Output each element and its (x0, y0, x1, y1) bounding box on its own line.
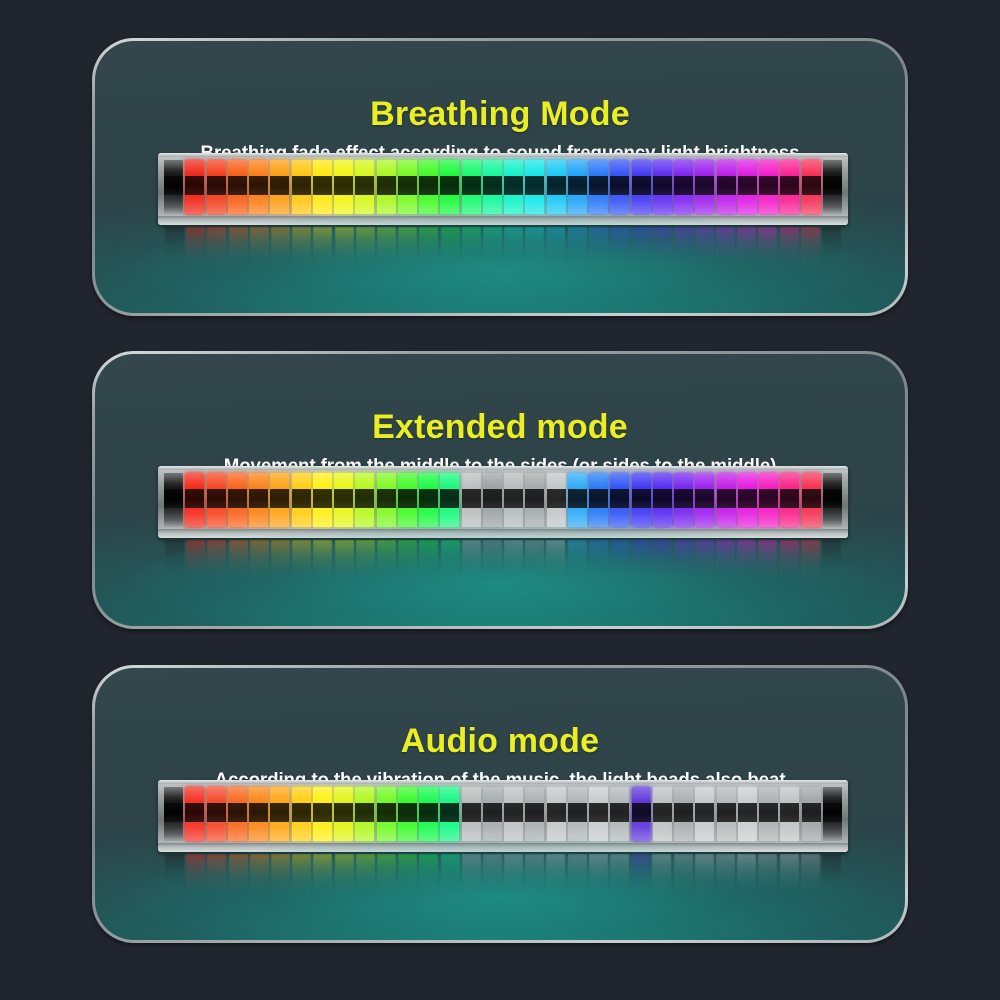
led-segment (249, 160, 268, 214)
led-reflection-segment (589, 540, 608, 602)
led-segment (632, 473, 651, 527)
led-segment (398, 473, 417, 527)
led-segment (653, 473, 672, 527)
led-segment (164, 160, 183, 214)
led-reflection-segment (292, 540, 311, 602)
led-reflection-segment (250, 540, 269, 602)
led-segment (292, 160, 311, 214)
led-segment (228, 787, 247, 841)
led-segment (462, 160, 481, 214)
led-reflection-segment (631, 540, 650, 602)
led-segment (164, 787, 183, 841)
led-segment (270, 160, 289, 214)
led-reflection-segment (441, 540, 460, 602)
led-reflection-segment (822, 540, 841, 602)
led-segment (164, 473, 183, 527)
led-segment (504, 787, 523, 841)
led-bar-reflection-breathing (164, 227, 842, 289)
led-reflection-segment (207, 540, 226, 602)
led-segment (398, 787, 417, 841)
led-reflection-segment (546, 854, 565, 916)
led-segment (228, 473, 247, 527)
led-reflection-segment (801, 540, 820, 602)
led-reflection-segment (398, 227, 417, 289)
led-reflection-segment (313, 227, 332, 289)
led-segment (270, 473, 289, 527)
led-segment (823, 473, 842, 527)
led-reflection-segment (652, 854, 671, 916)
led-reflection-segment (652, 227, 671, 289)
led-reflection-segment (186, 540, 205, 602)
led-reflection-segment (525, 227, 544, 289)
led-segment (504, 473, 523, 527)
led-reflection-segment (695, 854, 714, 916)
led-reflection-segment (758, 854, 777, 916)
led-segment (632, 787, 651, 841)
led-segment (483, 473, 502, 527)
led-reflection-segment (441, 227, 460, 289)
led-segment (738, 160, 757, 214)
led-segment (292, 787, 311, 841)
led-segment (589, 160, 608, 214)
led-segment (419, 787, 438, 841)
led-segment (334, 160, 353, 214)
led-reflection-segment (780, 227, 799, 289)
led-segment (717, 787, 736, 841)
mode-panel-breathing: Breathing Mode Breathing fade effect acc… (92, 38, 908, 316)
led-segment (674, 473, 693, 527)
led-segment (695, 160, 714, 214)
led-segment (653, 160, 672, 214)
led-reflection-segment (674, 540, 693, 602)
led-segment (249, 473, 268, 527)
led-segment (228, 160, 247, 214)
led-reflection-segment (504, 540, 523, 602)
led-segment (377, 473, 396, 527)
led-reflection-segment (568, 540, 587, 602)
led-segment (249, 787, 268, 841)
led-reflection-segment (758, 540, 777, 602)
led-segment (292, 473, 311, 527)
led-segment (207, 473, 226, 527)
led-segment (334, 787, 353, 841)
led-reflection-segment (737, 540, 756, 602)
led-reflection-segment (610, 854, 629, 916)
led-reflection-segment (758, 227, 777, 289)
led-reflection-segment (801, 854, 820, 916)
led-segment (695, 473, 714, 527)
led-reflection-segment (483, 854, 502, 916)
led-segment (589, 787, 608, 841)
led-segment (504, 160, 523, 214)
led-reflection-segment (419, 227, 438, 289)
led-reflection-segment (462, 227, 481, 289)
led-bar-reflection-audio (164, 854, 842, 916)
led-segment (674, 160, 693, 214)
led-reflection-segment (525, 540, 544, 602)
led-segment (759, 787, 778, 841)
led-reflection-segment (250, 854, 269, 916)
led-segment (759, 160, 778, 214)
led-reflection-segment (292, 854, 311, 916)
led-reflection-segment (589, 227, 608, 289)
led-reflection-segment (377, 227, 396, 289)
led-segment (632, 160, 651, 214)
led-segment (185, 787, 204, 841)
led-segment (738, 473, 757, 527)
led-reflection-segment (631, 227, 650, 289)
led-reflection-segment (822, 227, 841, 289)
led-segment (419, 160, 438, 214)
led-segment (355, 160, 374, 214)
led-segment (377, 787, 396, 841)
led-segment (440, 787, 459, 841)
led-bar-wrapper-breathing (158, 153, 848, 289)
led-segment (802, 160, 821, 214)
led-segment (547, 160, 566, 214)
panel-title-extended: Extended mode (95, 408, 905, 447)
led-segment (717, 473, 736, 527)
led-bar-wrapper-audio (158, 780, 848, 916)
led-reflection-segment (356, 540, 375, 602)
led-reflection-segment (546, 227, 565, 289)
panel-title-audio: Audio mode (95, 722, 905, 761)
led-reflection-segment (229, 540, 248, 602)
led-segment (589, 473, 608, 527)
led-reflection-segment (271, 227, 290, 289)
led-reflection-segment (398, 540, 417, 602)
bar-bottom-rail (158, 843, 848, 852)
led-bar-reflection-extended (164, 540, 842, 602)
product-feature-graphic: Breathing Mode Breathing fade effect acc… (0, 0, 1000, 1000)
led-reflection-segment (652, 540, 671, 602)
led-segment (462, 473, 481, 527)
led-segment (568, 473, 587, 527)
led-segment (759, 473, 778, 527)
led-reflection-segment (186, 227, 205, 289)
led-segment (717, 160, 736, 214)
led-segment (674, 787, 693, 841)
led-bar-wrapper-extended (158, 466, 848, 602)
led-reflection-segment (377, 854, 396, 916)
led-reflection-segment (801, 227, 820, 289)
led-segment (313, 160, 332, 214)
led-reflection-segment (250, 227, 269, 289)
led-reflection-segment (313, 854, 332, 916)
led-segments-extended (162, 469, 844, 536)
led-reflection-segment (568, 227, 587, 289)
led-reflection-segment (822, 854, 841, 916)
led-segment (547, 787, 566, 841)
led-segment (525, 787, 544, 841)
led-bar-extended (158, 466, 848, 538)
led-segment (653, 787, 672, 841)
led-reflection-segment (186, 854, 205, 916)
led-reflection-segment (695, 227, 714, 289)
led-reflection-segment (695, 540, 714, 602)
led-segment (462, 787, 481, 841)
led-reflection-segment (377, 540, 396, 602)
led-segment (185, 473, 204, 527)
led-segment (313, 787, 332, 841)
led-reflection-segment (716, 227, 735, 289)
led-reflection-segment (313, 540, 332, 602)
bar-bottom-rail (158, 216, 848, 225)
led-reflection-segment (356, 227, 375, 289)
led-reflection-segment (441, 854, 460, 916)
panel-inner-breathing: Breathing Mode Breathing fade effect acc… (95, 41, 905, 313)
led-segment (738, 787, 757, 841)
led-reflection-segment (335, 540, 354, 602)
led-segment (207, 160, 226, 214)
led-segments-audio (162, 783, 844, 850)
led-segment (419, 473, 438, 527)
led-reflection-segment (737, 854, 756, 916)
led-bar-breathing (158, 153, 848, 225)
led-segment (377, 160, 396, 214)
led-reflection-segment (546, 540, 565, 602)
led-reflection-segment (780, 540, 799, 602)
led-reflection-segment (674, 854, 693, 916)
led-reflection-segment (504, 854, 523, 916)
led-reflection-segment (568, 854, 587, 916)
led-segment (568, 787, 587, 841)
led-segment (780, 787, 799, 841)
led-segment (313, 473, 332, 527)
led-segment (440, 473, 459, 527)
panel-inner-extended: Extended mode Movement from the middle t… (95, 354, 905, 626)
led-segments-breathing (162, 156, 844, 223)
led-reflection-segment (462, 854, 481, 916)
led-reflection-segment (483, 540, 502, 602)
led-reflection-segment (229, 854, 248, 916)
led-reflection-segment (398, 854, 417, 916)
led-segment (610, 160, 629, 214)
led-reflection-segment (716, 854, 735, 916)
led-reflection-segment (716, 540, 735, 602)
led-reflection-segment (335, 227, 354, 289)
led-segment (610, 473, 629, 527)
led-reflection-segment (271, 540, 290, 602)
led-bar-audio (158, 780, 848, 852)
led-reflection-segment (780, 854, 799, 916)
led-segment (823, 787, 842, 841)
led-reflection-segment (462, 540, 481, 602)
led-segment (610, 787, 629, 841)
led-reflection-segment (610, 227, 629, 289)
led-reflection-segment (335, 854, 354, 916)
led-segment (207, 787, 226, 841)
led-reflection-segment (419, 540, 438, 602)
led-reflection-segment (504, 227, 523, 289)
led-reflection-segment (631, 854, 650, 916)
led-segment (525, 160, 544, 214)
led-reflection-segment (292, 227, 311, 289)
led-reflection-segment (165, 540, 184, 602)
led-reflection-segment (165, 854, 184, 916)
led-segment (823, 160, 842, 214)
led-segment (568, 160, 587, 214)
panel-title-breathing: Breathing Mode (95, 95, 905, 134)
led-segment (802, 473, 821, 527)
led-reflection-segment (610, 540, 629, 602)
led-reflection-segment (271, 854, 290, 916)
led-segment (547, 473, 566, 527)
led-reflection-segment (589, 854, 608, 916)
led-reflection-segment (419, 854, 438, 916)
led-segment (440, 160, 459, 214)
led-segment (185, 160, 204, 214)
led-segment (780, 160, 799, 214)
led-reflection-segment (483, 227, 502, 289)
led-segment (355, 473, 374, 527)
led-segment (695, 787, 714, 841)
mode-panel-extended: Extended mode Movement from the middle t… (92, 351, 908, 629)
led-segment (780, 473, 799, 527)
led-reflection-segment (737, 227, 756, 289)
led-segment (270, 787, 289, 841)
led-segment (355, 787, 374, 841)
led-segment (334, 473, 353, 527)
led-reflection-segment (207, 854, 226, 916)
led-reflection-segment (207, 227, 226, 289)
panel-inner-audio: Audio mode According to the vibration of… (95, 668, 905, 940)
bar-bottom-rail (158, 529, 848, 538)
mode-panel-audio: Audio mode According to the vibration of… (92, 665, 908, 943)
led-segment (398, 160, 417, 214)
led-reflection-segment (674, 227, 693, 289)
led-segment (483, 787, 502, 841)
led-segment (802, 787, 821, 841)
led-reflection-segment (165, 227, 184, 289)
led-reflection-segment (229, 227, 248, 289)
led-segment (483, 160, 502, 214)
led-reflection-segment (525, 854, 544, 916)
led-reflection-segment (356, 854, 375, 916)
led-segment (525, 473, 544, 527)
